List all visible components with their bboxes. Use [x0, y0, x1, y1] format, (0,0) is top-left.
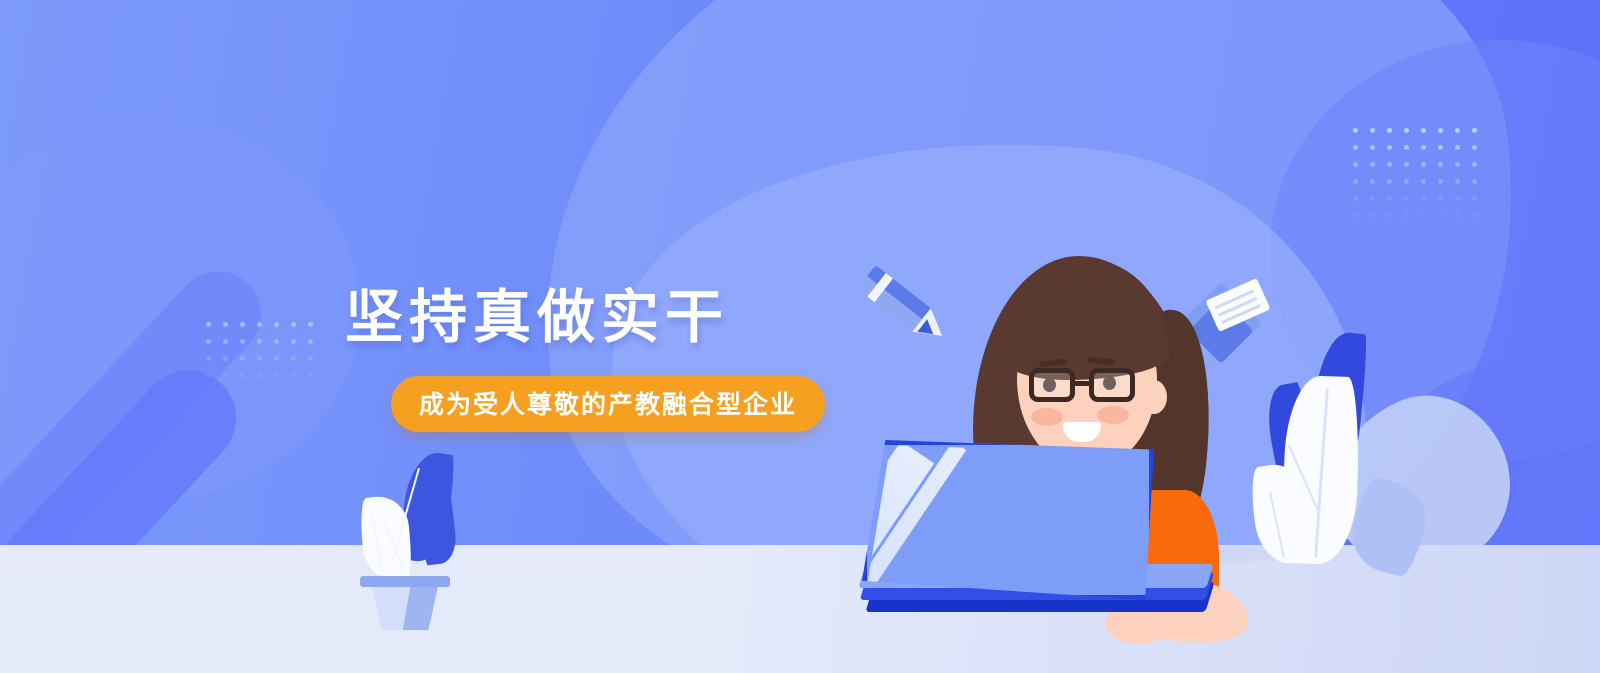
- potted-plant-icon: [352, 452, 470, 630]
- glasses-icon: [1029, 368, 1153, 402]
- tagline-pill: 成为受人尊敬的产教融合型企业: [391, 376, 825, 432]
- page-title: 坚持真做实干: [345, 285, 825, 352]
- hero-copy: 坚持真做实干 成为受人尊敬的产教融合型企业: [345, 285, 825, 432]
- pencil-icon: [857, 265, 953, 349]
- hero-banner: 坚持真做实干 成为受人尊敬的产教融合型企业: [0, 0, 1600, 673]
- laptop-icon: [862, 440, 1222, 645]
- dot-grid-right-icon: [1347, 122, 1483, 224]
- dot-grid-left-icon: [200, 316, 319, 384]
- floor-surface: [0, 545, 1600, 673]
- leaves-right-icon: [1258, 332, 1438, 562]
